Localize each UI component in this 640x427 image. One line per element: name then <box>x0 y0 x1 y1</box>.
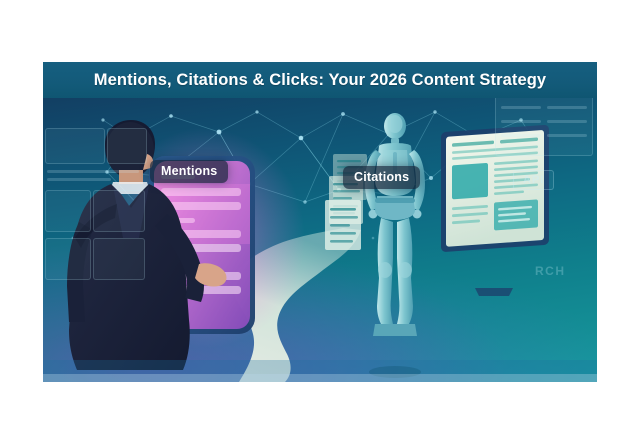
ghost-card-left-1 <box>45 128 105 164</box>
ghost-line-left-2 <box>47 178 111 181</box>
ghost-line-right-4 <box>547 120 587 123</box>
illustration-canvas: API RCH <box>43 98 597 382</box>
ghost-line-right-5 <box>501 134 541 137</box>
ghost-line-right-3 <box>501 120 541 123</box>
ghost-card-left-5 <box>45 238 91 280</box>
node-label-mentions: Mentions <box>150 160 228 183</box>
title-banner: Mentions, Citations & Clicks: Your 2026 … <box>43 62 597 98</box>
ghost-card-left-6 <box>93 238 145 280</box>
ghost-card-left-4 <box>93 190 145 232</box>
ghost-line-left-1 <box>47 170 139 173</box>
ghost-word-right: RCH <box>535 264 566 278</box>
node-label-citations: Citations <box>343 166 420 189</box>
ghost-line-right-6 <box>547 134 587 137</box>
ghost-card-left-3 <box>45 190 91 232</box>
ghost-line-right-2 <box>547 106 587 109</box>
hero-image-card: Mentions, Citations & Clicks: Your 2026 … <box>43 62 597 382</box>
ghost-line-right-1 <box>501 106 541 109</box>
ghost-card-left-2 <box>107 128 147 164</box>
page-title: Mentions, Citations & Clicks: Your 2026 … <box>94 71 546 90</box>
page-root: Mentions, Citations & Clicks: Your 2026 … <box>0 0 640 427</box>
api-badge: API <box>513 170 554 190</box>
